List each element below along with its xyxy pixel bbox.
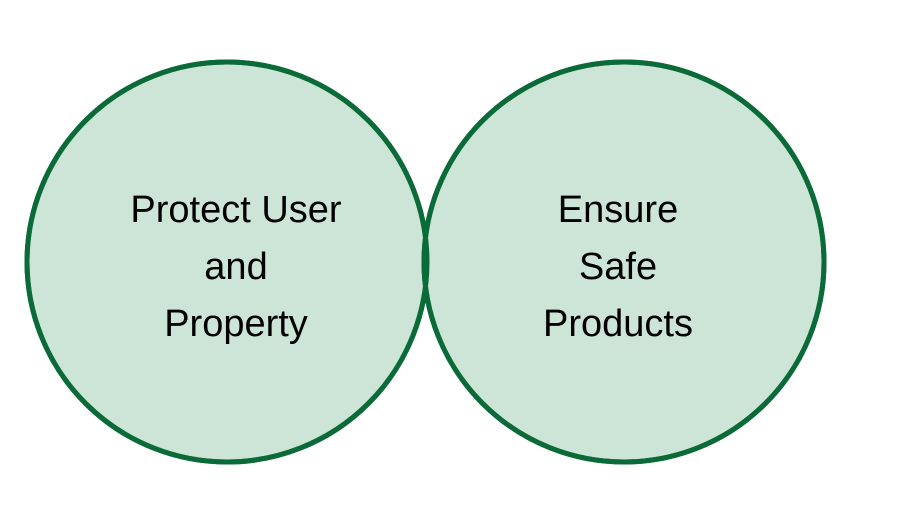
venn-diagram: Protect User and Property Ensure Safe Pr… bbox=[0, 0, 900, 522]
venn-diagram-canvas bbox=[0, 0, 900, 522]
